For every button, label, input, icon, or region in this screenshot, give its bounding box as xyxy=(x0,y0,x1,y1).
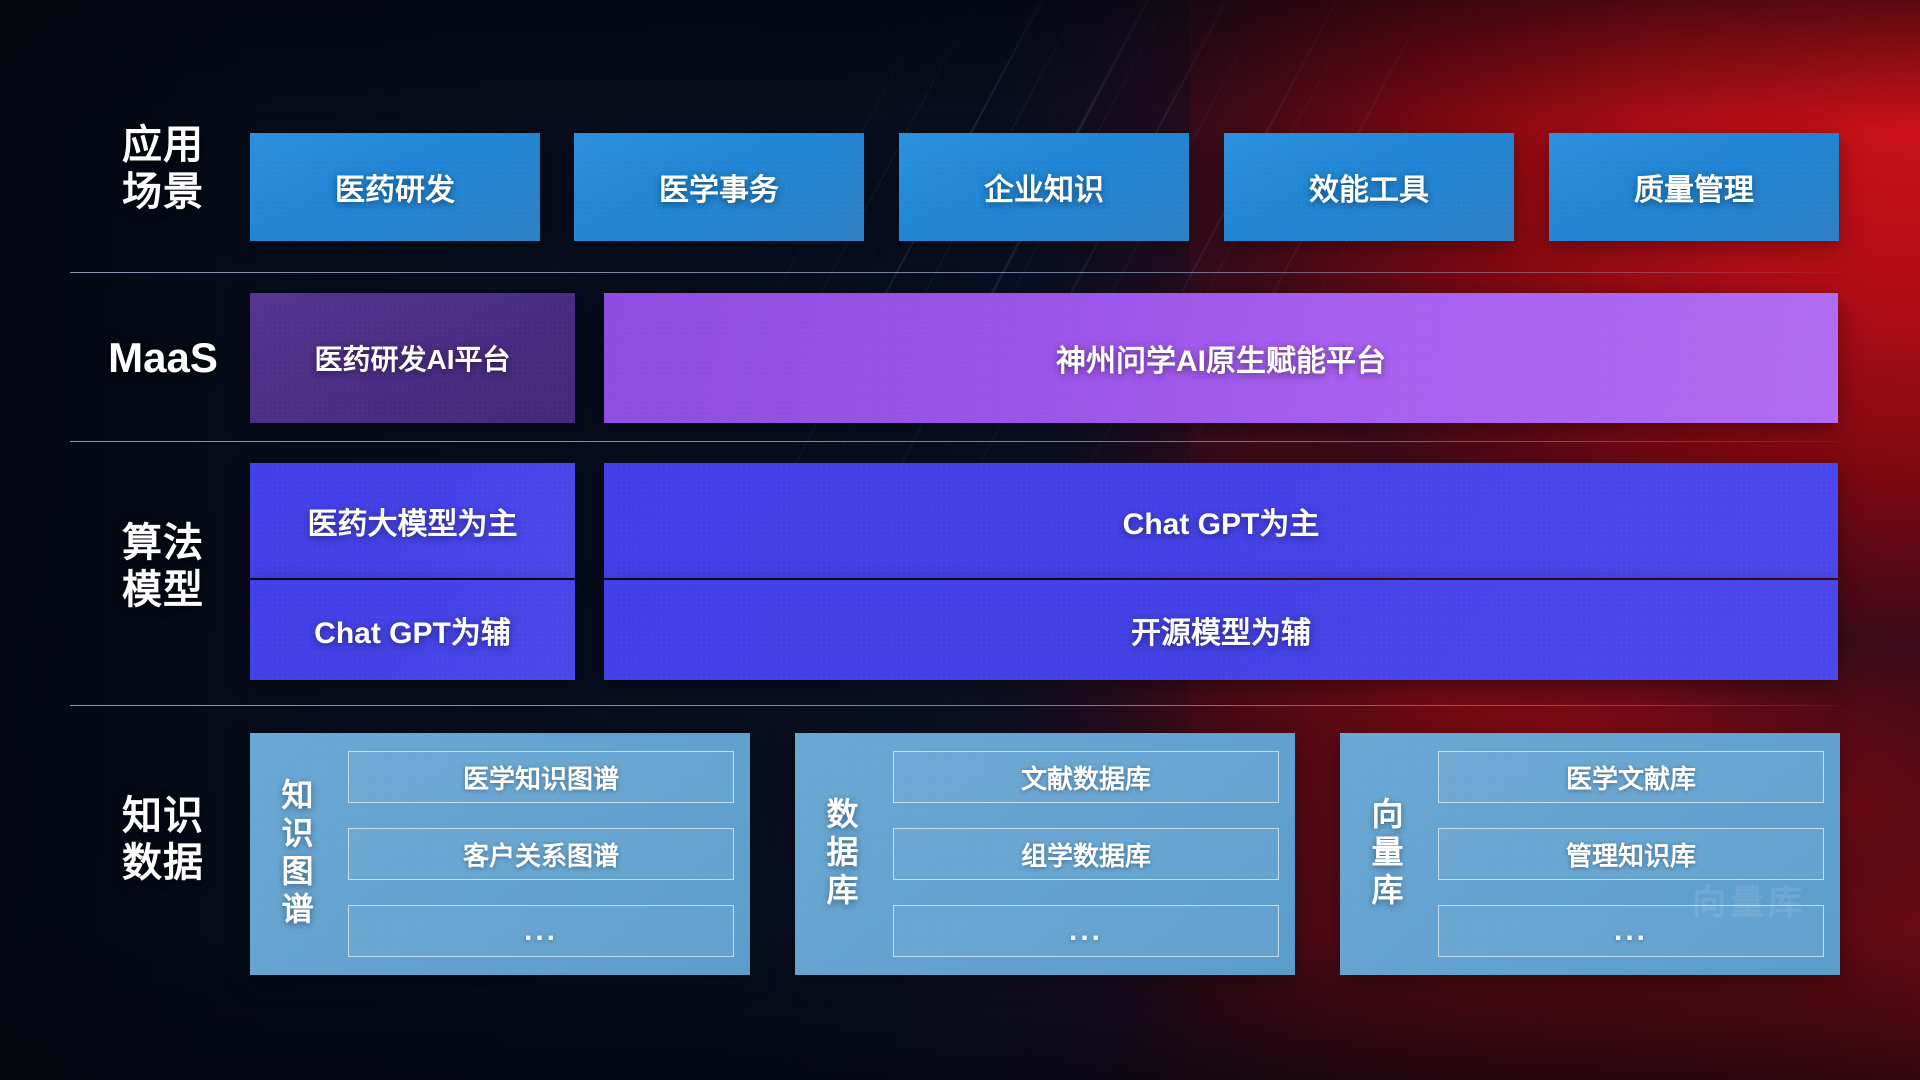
divider-after-algorithm-model xyxy=(70,705,1838,706)
row-label-line: 场景 xyxy=(88,169,238,216)
knowledge-item[interactable]: 管理知识库 xyxy=(1438,828,1824,880)
app-card-quality-management[interactable]: 质量管理 xyxy=(1549,133,1839,241)
maas-card-shenzhou-wenxue-platform[interactable]: 神州问学AI原生赋能平台 xyxy=(604,293,1838,423)
app-card-label: 企业知识 xyxy=(984,165,1104,209)
divider-after-maas xyxy=(70,441,1838,442)
maas-card-label: 神州问学AI原生赋能平台 xyxy=(1056,336,1386,380)
algo-card-chatgpt-secondary[interactable]: Chat GPT为辅 xyxy=(250,580,575,680)
app-card-efficiency-tools[interactable]: 效能工具 xyxy=(1224,133,1514,241)
row-label-line: 应用 xyxy=(88,122,238,169)
knowledge-item-more[interactable]: ... xyxy=(1438,905,1824,957)
maas-card-drug-rnd-ai-platform[interactable]: 医药研发AI平台 xyxy=(250,293,575,423)
knowledge-group-title: 数据库 xyxy=(809,747,871,961)
algo-card-opensource-secondary[interactable]: 开源模型为辅 xyxy=(604,580,1838,680)
row-label-line: 模型 xyxy=(88,567,238,614)
algo-card-label: Chat GPT为主 xyxy=(1123,499,1320,543)
knowledge-group-vector-store[interactable]: 向量库 医学文献库 管理知识库 ... 向量库 xyxy=(1340,733,1840,975)
row-label-line: MaaS xyxy=(88,333,238,383)
knowledge-group-title: 知识图谱 xyxy=(264,747,326,961)
row-label-maas: MaaS xyxy=(88,333,238,383)
knowledge-group-knowledge-graph[interactable]: 知识图谱 医学知识图谱 客户关系图谱 ... xyxy=(250,733,750,975)
app-card-medical-affairs[interactable]: 医学事务 xyxy=(574,133,864,241)
divider-after-application-scenarios xyxy=(70,272,1838,273)
knowledge-item[interactable]: 客户关系图谱 xyxy=(348,828,734,880)
row-label-line: 知识 xyxy=(88,793,238,840)
app-card-drug-rnd[interactable]: 医药研发 xyxy=(250,133,540,241)
knowledge-group-items: 文献数据库 组学数据库 ... xyxy=(893,747,1279,961)
knowledge-item[interactable]: 医学文献库 xyxy=(1438,751,1824,803)
algo-card-chatgpt-primary[interactable]: Chat GPT为主 xyxy=(604,463,1838,578)
knowledge-group-title: 向量库 xyxy=(1354,747,1416,961)
row-label-algorithm-model: 算法 模型 xyxy=(88,520,238,614)
knowledge-group-items: 医学知识图谱 客户关系图谱 ... xyxy=(348,747,734,961)
knowledge-item[interactable]: 医学知识图谱 xyxy=(348,751,734,803)
row-label-application-scenarios: 应用 场景 xyxy=(88,122,238,216)
app-card-label: 效能工具 xyxy=(1309,165,1429,209)
app-card-enterprise-knowledge[interactable]: 企业知识 xyxy=(899,133,1189,241)
app-card-label: 医学事务 xyxy=(659,165,779,209)
algo-card-pharma-large-model-primary[interactable]: 医药大模型为主 xyxy=(250,463,575,578)
knowledge-item[interactable]: 文献数据库 xyxy=(893,751,1279,803)
app-card-label: 质量管理 xyxy=(1634,165,1754,209)
knowledge-item-more[interactable]: ... xyxy=(893,905,1279,957)
row-label-line: 算法 xyxy=(88,520,238,567)
row-label-line: 数据 xyxy=(88,840,238,887)
row-label-knowledge-data: 知识 数据 xyxy=(88,793,238,887)
knowledge-group-database[interactable]: 数据库 文献数据库 组学数据库 ... xyxy=(795,733,1295,975)
algo-card-label: 医药大模型为主 xyxy=(308,499,518,543)
maas-card-label: 医药研发AI平台 xyxy=(314,338,510,378)
algo-card-label: Chat GPT为辅 xyxy=(314,608,511,652)
knowledge-item[interactable]: 组学数据库 xyxy=(893,828,1279,880)
algo-card-label: 开源模型为辅 xyxy=(1131,608,1311,652)
knowledge-group-items: 医学文献库 管理知识库 ... xyxy=(1438,747,1824,961)
app-card-label: 医药研发 xyxy=(335,165,455,209)
knowledge-item-more[interactable]: ... xyxy=(348,905,734,957)
